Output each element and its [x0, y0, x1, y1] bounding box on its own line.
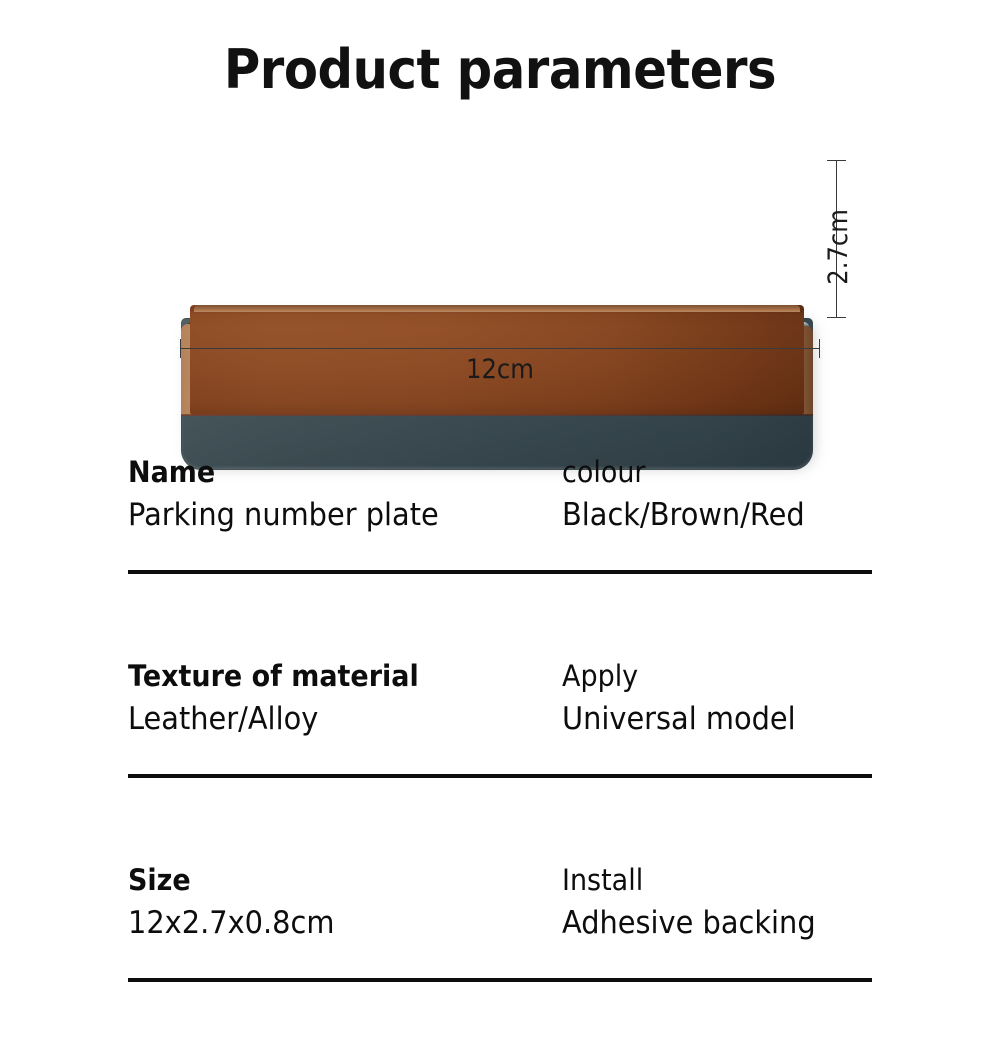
- spec-value-install: Adhesive backing: [562, 901, 850, 945]
- spec-cell-size: Size 12x2.7x0.8cm: [128, 860, 562, 945]
- spec-label-texture-of-material: Texture of material: [128, 656, 532, 697]
- spec-row-divider: [128, 774, 872, 778]
- spec-value-name: Parking number plate: [128, 493, 532, 537]
- dimension-height-label: 2.7cm: [824, 176, 854, 318]
- page-title: Product parameters: [40, 38, 960, 101]
- spec-cell-install: Install Adhesive backing: [562, 860, 872, 945]
- spec-row: Texture of material Leather/Alloy Apply …: [128, 656, 872, 860]
- spec-cell-apply: Apply Universal model: [562, 656, 872, 741]
- spec-value-size: 12x2.7x0.8cm: [128, 901, 532, 945]
- spec-label-install: Install: [562, 860, 850, 901]
- product-flap-top-lip: [194, 305, 800, 312]
- spec-row: Name Parking number plate colour Black/B…: [128, 452, 872, 656]
- dimension-width-rule: [180, 348, 820, 349]
- spec-label-name: Name: [128, 452, 532, 493]
- spec-value-colour: Black/Brown/Red: [562, 493, 850, 537]
- dimension-width-cap-left: [180, 339, 181, 358]
- dimension-width-label: 12cm: [212, 354, 788, 385]
- spec-table: Name Parking number plate colour Black/B…: [128, 452, 872, 1064]
- spec-row-divider: [128, 570, 872, 574]
- dimension-height-cap-top: [827, 160, 846, 161]
- dimension-width-cap-right: [819, 339, 820, 358]
- product-seam-line: [181, 414, 813, 416]
- spec-value-apply: Universal model: [562, 697, 850, 741]
- spec-cell-name: Name Parking number plate: [128, 452, 562, 537]
- spec-row-divider: [128, 978, 872, 982]
- spec-cell-colour: colour Black/Brown/Red: [562, 452, 872, 537]
- spec-label-size: Size: [128, 860, 532, 901]
- spec-label-apply: Apply: [562, 656, 850, 697]
- spec-row: Size 12x2.7x0.8cm Install Adhesive backi…: [128, 860, 872, 1064]
- spec-value-texture-of-material: Leather/Alloy: [128, 697, 532, 741]
- spec-cell-texture-of-material: Texture of material Leather/Alloy: [128, 656, 562, 741]
- spec-label-colour: colour: [562, 452, 850, 493]
